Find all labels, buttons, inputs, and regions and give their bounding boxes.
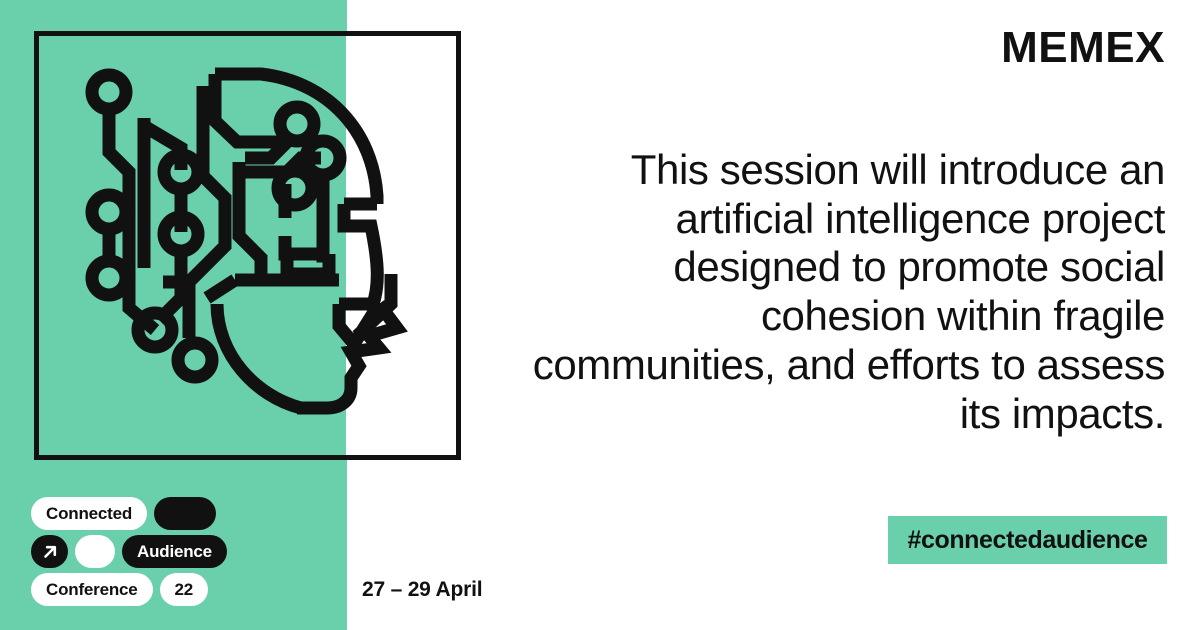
logo-pill-conference: Conference bbox=[31, 573, 153, 606]
hashtag-badge: #connectedaudience bbox=[888, 516, 1167, 564]
page-title: MEMEX bbox=[1001, 26, 1165, 70]
event-session-poster: Connected Audience Conference 22 27 – 29… bbox=[0, 0, 1200, 630]
circuit-head-svg bbox=[39, 36, 456, 455]
event-dates: 27 – 29 April bbox=[362, 578, 482, 602]
connected-audience-conference-logo: Connected Audience Conference 22 bbox=[31, 497, 261, 611]
logo-pill-year: 22 bbox=[160, 573, 209, 606]
logo-blob-white bbox=[75, 535, 115, 568]
logo-blob-black bbox=[154, 497, 216, 530]
logo-pill-connected: Connected bbox=[31, 497, 147, 530]
logo-row-connected: Connected bbox=[31, 497, 261, 530]
logo-row-conference: Conference 22 bbox=[31, 573, 261, 606]
ai-circuit-head-illustration bbox=[34, 31, 461, 460]
session-description: This session will introduce an artificia… bbox=[527, 146, 1165, 438]
arrow-up-right-icon bbox=[31, 535, 68, 568]
logo-row-audience: Audience bbox=[31, 535, 261, 568]
hashtag-label: #connectedaudience bbox=[907, 526, 1147, 555]
logo-pill-audience: Audience bbox=[122, 535, 227, 568]
